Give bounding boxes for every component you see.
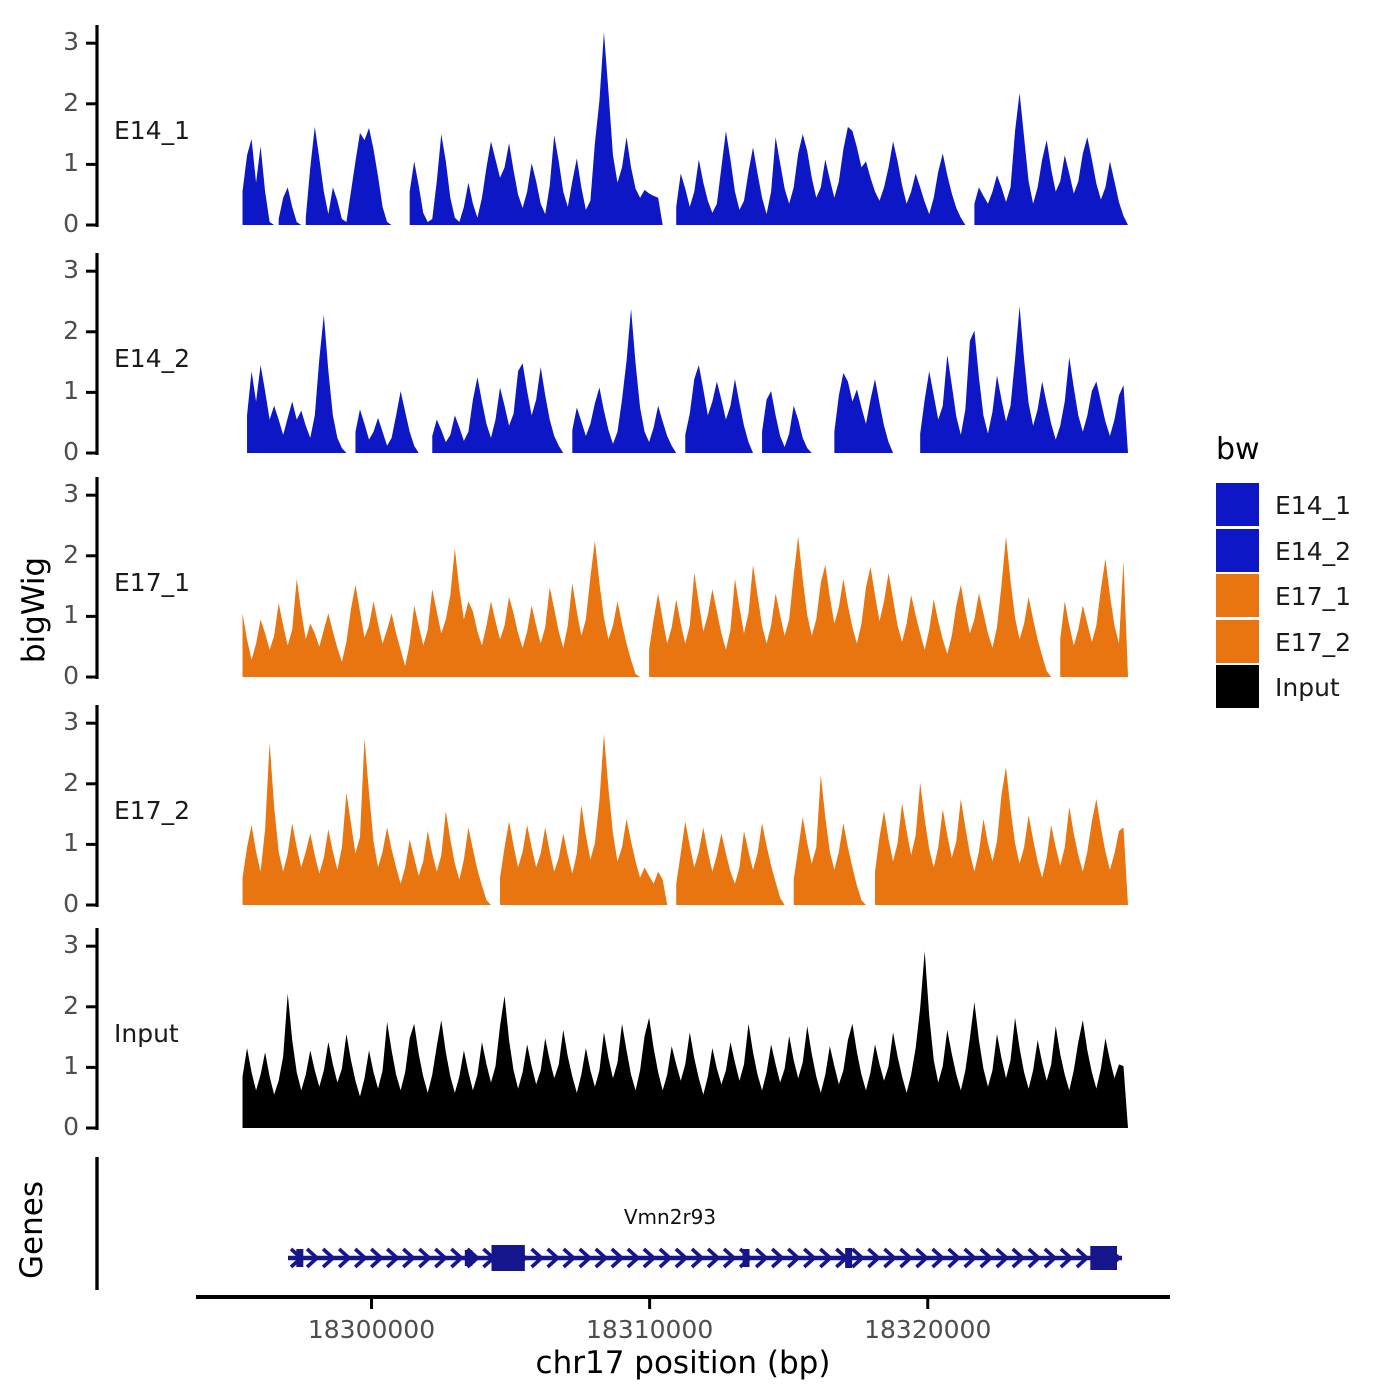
exon-block[interactable]: [465, 1250, 473, 1266]
gene-model[interactable]: [0, 0, 1400, 1400]
exon-block[interactable]: [296, 1249, 303, 1267]
exon-block[interactable]: [1090, 1246, 1117, 1270]
exon-block[interactable]: [845, 1248, 852, 1268]
exon-block[interactable]: [743, 1249, 750, 1267]
exon-block[interactable]: [491, 1245, 524, 1271]
genome-browser-figure: bigWig Genes chr17 position (bp) bw Vmn2…: [0, 0, 1400, 1400]
